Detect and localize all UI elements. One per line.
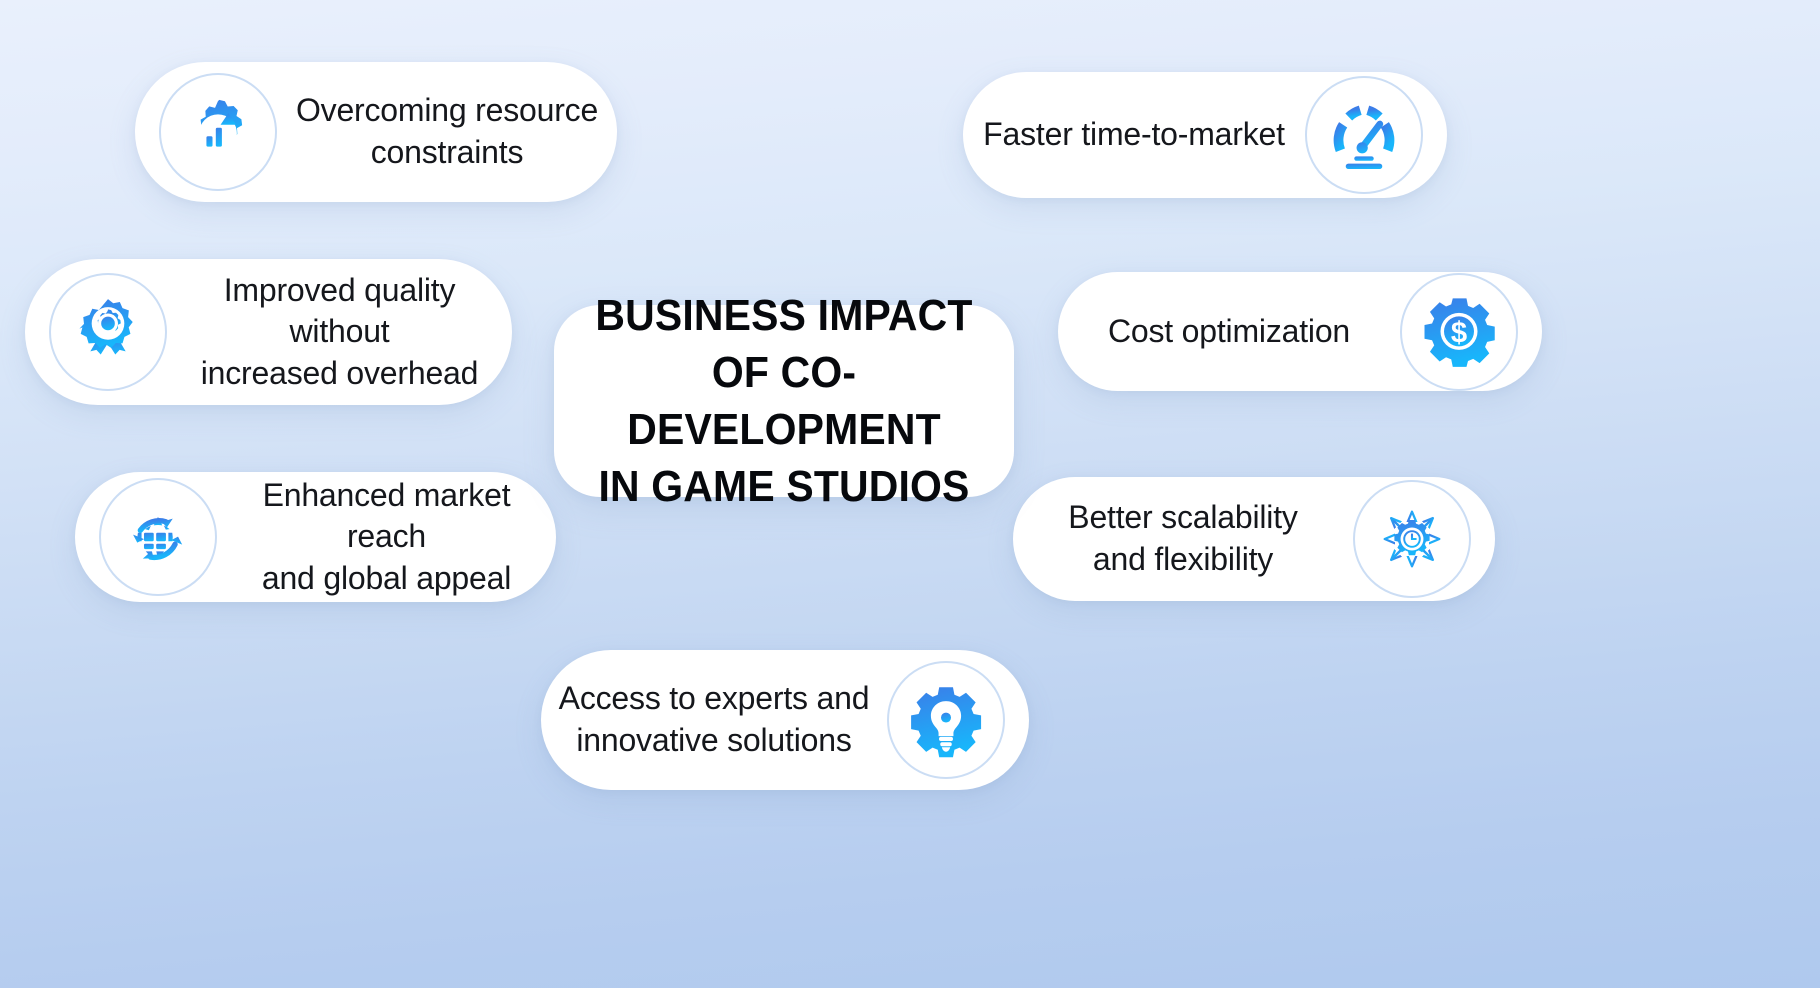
award-ribbon-gear-icon — [49, 273, 167, 391]
card-cost-optimization[interactable]: $ Cost optimization — [1058, 272, 1542, 391]
card-improved-quality[interactable]: Improved quality without increased overh… — [25, 259, 512, 405]
card-faster-time-to-market[interactable]: Faster time-to-market — [963, 72, 1447, 198]
card-overcoming-resource-constraints[interactable]: Overcoming resource constraints — [135, 62, 617, 202]
center-title-card: BUSINESS IMPACT OF CO-DEVELOPMENT IN GAM… — [554, 305, 1014, 497]
infographic-canvas: Overcoming resource constraints — [0, 0, 1820, 988]
card-label: Enhanced market reach and global appeal — [217, 475, 556, 600]
page-title: BUSINESS IMPACT OF CO-DEVELOPMENT IN GAM… — [570, 287, 998, 516]
svg-text:$: $ — [1451, 317, 1467, 349]
gear-bar-chart-growth-icon — [159, 73, 277, 191]
speedometer-gauge-icon — [1305, 76, 1423, 194]
card-label: Access to experts and innovative solutio… — [541, 678, 887, 761]
card-label: Better scalability and flexibility — [1013, 497, 1353, 580]
card-label: Cost optimization — [1058, 311, 1400, 353]
card-label: Faster time-to-market — [963, 114, 1305, 156]
card-access-to-experts[interactable]: Access to experts and innovative solutio… — [541, 650, 1029, 790]
globe-rotating-arrows-icon — [99, 478, 217, 596]
card-label: Overcoming resource constraints — [277, 90, 617, 173]
card-enhanced-market-reach[interactable]: Enhanced market reach and global appeal — [75, 472, 556, 602]
gear-clock-expand-arrows-icon — [1353, 480, 1471, 598]
card-label: Improved quality without increased overh… — [167, 270, 512, 395]
gear-lightbulb-icon — [887, 661, 1005, 779]
gear-dollar-icon: $ — [1400, 273, 1518, 391]
card-better-scalability[interactable]: Better scalability and flexibility — [1013, 477, 1495, 601]
